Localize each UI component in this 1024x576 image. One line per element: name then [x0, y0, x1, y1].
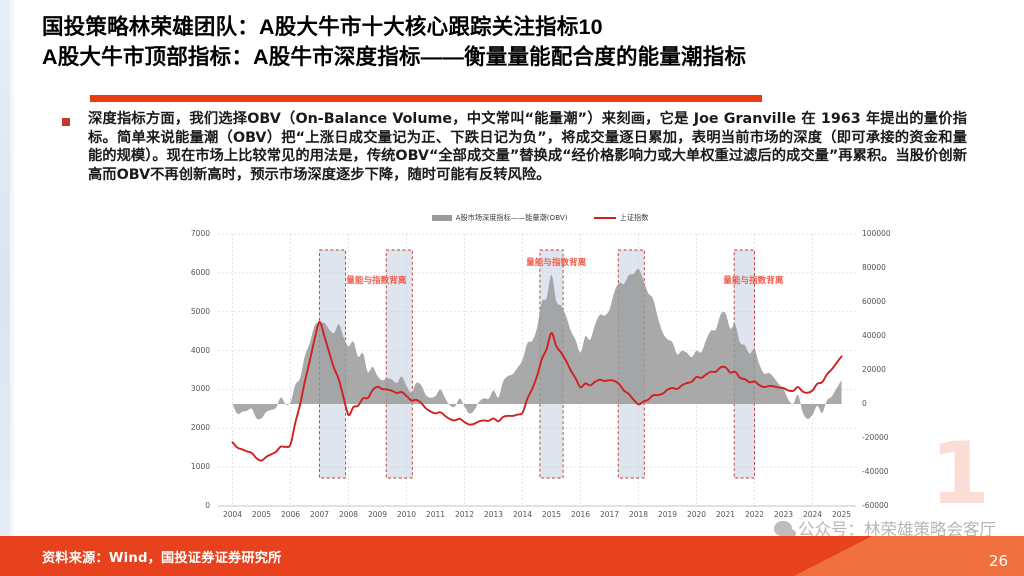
x-axis-tick: 2011: [421, 510, 451, 519]
legend-swatch-line-icon: [594, 217, 616, 219]
x-axis-tick: 2013: [479, 510, 509, 519]
bullet-square-icon: [62, 118, 70, 126]
x-axis-tick: 2016: [566, 510, 596, 519]
left-axis-tick: 6000: [176, 268, 210, 277]
right-axis-tick: 0: [862, 399, 902, 408]
left-axis-tick: 5000: [176, 307, 210, 316]
left-axis-tick: 0: [176, 501, 210, 510]
x-axis-tick: 2012: [450, 510, 480, 519]
source-note: 资料来源：Wind，国投证券证券研究所: [42, 547, 282, 566]
right-axis-tick: 20000: [862, 365, 902, 374]
x-axis-tick: 2020: [682, 510, 712, 519]
page-number: 26: [989, 552, 1008, 570]
right-axis-tick: 60000: [862, 297, 902, 306]
annotation-label: 量能与指数背离: [723, 274, 783, 286]
page-title-line1: 国投策略林荣雄团队：A股大牛市十大核心跟踪关注指标10: [42, 12, 1012, 42]
right-axis-tick: -20000: [862, 433, 902, 442]
left-axis-tick: 4000: [176, 346, 210, 355]
legend-item-obv: A股市场深度指标——能量潮(OBV): [432, 213, 568, 223]
wechat-icon: [774, 521, 792, 536]
chart-legend: A股市场深度指标——能量潮(OBV) 上证指数: [170, 208, 910, 228]
right-axis-tick: 80000: [862, 263, 902, 272]
x-axis-tick: 2022: [740, 510, 770, 519]
x-axis-tick: 2019: [653, 510, 683, 519]
chart-container: A股市场深度指标——能量潮(OBV) 上证指数 0100020003000400…: [170, 208, 910, 533]
title-underline-rule: [90, 95, 762, 102]
x-axis-tick: 2009: [363, 510, 393, 519]
left-decorative-bar-inner: [10, 0, 14, 576]
annotation-label: 量能与指数背离: [526, 256, 586, 268]
right-axis-tick: 100000: [862, 229, 902, 238]
body-bullet-block: 深度指标方面，我们选择OBV（On-Balance Volume，中文常叫“能量…: [62, 110, 967, 184]
x-axis-tick: 2015: [537, 510, 567, 519]
left-axis-tick: 2000: [176, 423, 210, 432]
x-axis-tick: 2008: [334, 510, 364, 519]
body-paragraph: 深度指标方面，我们选择OBV（On-Balance Volume，中文常叫“能量…: [88, 110, 967, 184]
right-axis-tick: 40000: [862, 331, 902, 340]
plot-wrapper: 01000200030004000500060007000 -60000-400…: [170, 228, 910, 533]
left-decorative-bar: [0, 0, 10, 576]
legend-label-szindex: 上证指数: [620, 213, 649, 223]
right-axis-tick: -60000: [862, 501, 902, 510]
x-axis-tick: 2004: [218, 510, 248, 519]
left-axis-tick: 7000: [176, 229, 210, 238]
x-axis-tick: 2014: [508, 510, 538, 519]
x-axis-tick: 2005: [247, 510, 277, 519]
left-axis-tick: 1000: [176, 462, 210, 471]
legend-label-obv: A股市场深度指标——能量潮(OBV): [456, 213, 568, 223]
x-axis-tick: 2007: [305, 510, 335, 519]
left-axis-tick: 3000: [176, 384, 210, 393]
annotation-label: 量能与指数背离: [346, 274, 406, 286]
x-axis-tick: 2010: [392, 510, 422, 519]
ghost-number-decoration: 1: [930, 424, 990, 524]
slide-header: 国投策略林荣雄团队：A股大牛市十大核心跟踪关注指标10 A股大牛市顶部指标：A股…: [42, 12, 1012, 72]
x-axis-tick: 2021: [711, 510, 741, 519]
x-axis-tick: 2006: [276, 510, 306, 519]
footer-bar: 资料来源：Wind，国投证券证券研究所 26: [0, 536, 1024, 576]
page-title-line2: A股大牛市顶部指标：A股牛市深度指标——衡量量能配合度的能量潮指标: [42, 42, 1012, 72]
legend-swatch-area-icon: [432, 215, 452, 221]
right-axis-tick: -40000: [862, 467, 902, 476]
legend-item-szindex: 上证指数: [594, 213, 649, 223]
chart-plot-svg: [170, 228, 910, 533]
x-axis-tick: 2018: [624, 510, 654, 519]
x-axis-tick: 2017: [595, 510, 625, 519]
